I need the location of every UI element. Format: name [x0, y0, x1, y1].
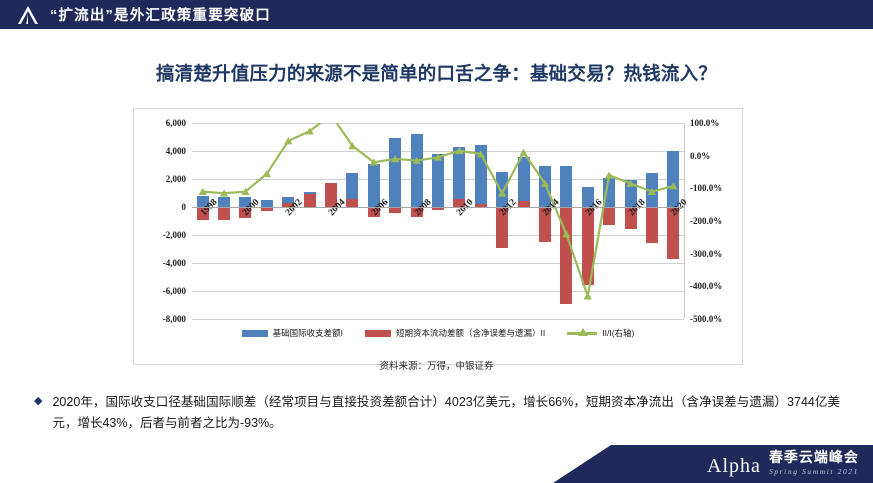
footer-brand-en: Spring Summit 2021: [769, 467, 859, 476]
y-axis-tick-label: -4,000: [163, 258, 186, 268]
legend-item-ratio: II/I(右轴): [567, 327, 634, 339]
header-title: “扩流出”是外汇政策重要突破口: [50, 4, 271, 25]
slide-header-bar: “扩流出”是外汇政策重要突破口: [0, 0, 873, 29]
bullet-paragraph: ◆ 2020年，国际收支口径基础国际顺差（经常项目与直接投资差额合计）4023亿…: [34, 392, 840, 434]
y-axis-tick-label: 0: [182, 202, 187, 212]
source-note: 资料来源：万得，中银证券: [0, 358, 873, 372]
bullet-text: 2020年，国际收支口径基础国际顺差（经常项目与直接投资差额合计）4023亿美元…: [52, 392, 840, 434]
legend-label-base-bop: 基础国际收支差额I: [273, 327, 343, 339]
legend-item-base-bop: 基础国际收支差额I: [242, 327, 343, 339]
footer-brand-alpha: Alpha: [707, 455, 761, 478]
y-axis-tick-label: -6,000: [163, 286, 186, 296]
y-axis-tick-label: -2,000: [163, 230, 186, 240]
legend-label-ratio: II/I(右轴): [602, 327, 634, 339]
y-axis-tick-label: -8,000: [163, 314, 186, 324]
y-axis-tick-label: 2,000: [166, 174, 186, 184]
y-axis-right-tick-label: -100.0%: [690, 183, 722, 193]
legend-label-short-term-capital: 短期资本流动差额（含净误差与遗漏）II: [396, 327, 545, 339]
footer-brand: Alpha 春季云端峰会 Spring Summit 2021: [707, 447, 859, 478]
x-axis-line: [192, 207, 684, 208]
chart-plot-area: [192, 123, 684, 319]
footer-brand-cn: 春季云端峰会: [769, 447, 859, 467]
legend-line-green: [567, 332, 597, 335]
y-axis-right-tick-label: 100.0%: [690, 118, 719, 128]
y-axis-right-tick-label: -500.0%: [690, 314, 722, 324]
chart-panel: 6,0004,0002,0000-2,000-4,000-6,000-8,000…: [133, 108, 743, 365]
y-axis-right-tick-label: -200.0%: [690, 216, 722, 226]
legend-swatch-red: [365, 330, 391, 337]
y-axis-tick-label: 4,000: [166, 146, 186, 156]
gridline: [192, 319, 684, 320]
bullet-marker-icon: ◆: [34, 392, 42, 411]
slide-footer: Alpha 春季云端峰会 Spring Summit 2021: [0, 445, 873, 483]
ratio-line-series: [192, 123, 684, 319]
chart-legend: 基础国际收支差额I 短期资本流动差额（含净误差与遗漏）II II/I(右轴): [134, 327, 742, 339]
triangle-mountain-icon: [16, 5, 40, 25]
y-axis-right-tick-label: 0.0%: [690, 151, 710, 161]
legend-swatch-blue: [242, 330, 268, 337]
y-axis-tick-label: 6,000: [166, 118, 186, 128]
legend-item-short-term-capital: 短期资本流动差额（含净误差与遗漏）II: [365, 327, 545, 339]
page-title: 搞清楚升值压力的来源不是简单的口舌之争：基础交易？热钱流入？: [0, 60, 873, 86]
y-axis-right-tick-label: -400.0%: [690, 281, 722, 291]
right-axis-line: [684, 123, 685, 319]
y-axis-right-tick-label: -300.0%: [690, 249, 722, 259]
